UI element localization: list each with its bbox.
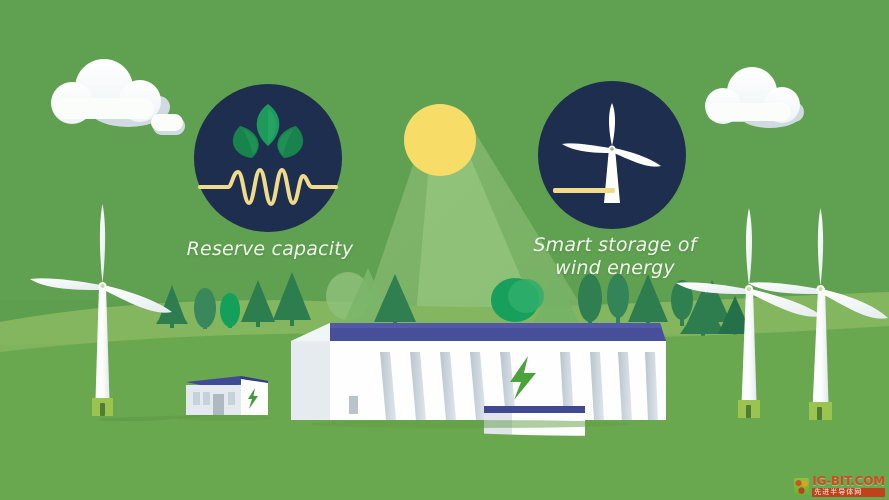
badge-label-smart-storage: Smart storage of wind energy: [500, 234, 730, 280]
watermark-domain: IG-BIT.COM: [812, 475, 885, 487]
storage-bar-icon: [553, 188, 615, 193]
ig-bit-watermark: IG-BIT.COM 先进半导体网: [794, 475, 885, 497]
badge-layer: [0, 0, 889, 500]
badge-label-reserve-capacity: Reserve capacity: [150, 238, 390, 261]
watermark-subtitle: 先进半导体网: [812, 488, 885, 497]
watermark-logo-icon: [794, 478, 809, 495]
illustration-scene: Reserve capacity Smart storage of wind e…: [0, 0, 889, 500]
watermark-text-group: IG-BIT.COM 先进半导体网: [812, 475, 885, 497]
badge-reserve-capacity[interactable]: [194, 84, 342, 232]
badge-smart-storage[interactable]: [538, 81, 686, 229]
